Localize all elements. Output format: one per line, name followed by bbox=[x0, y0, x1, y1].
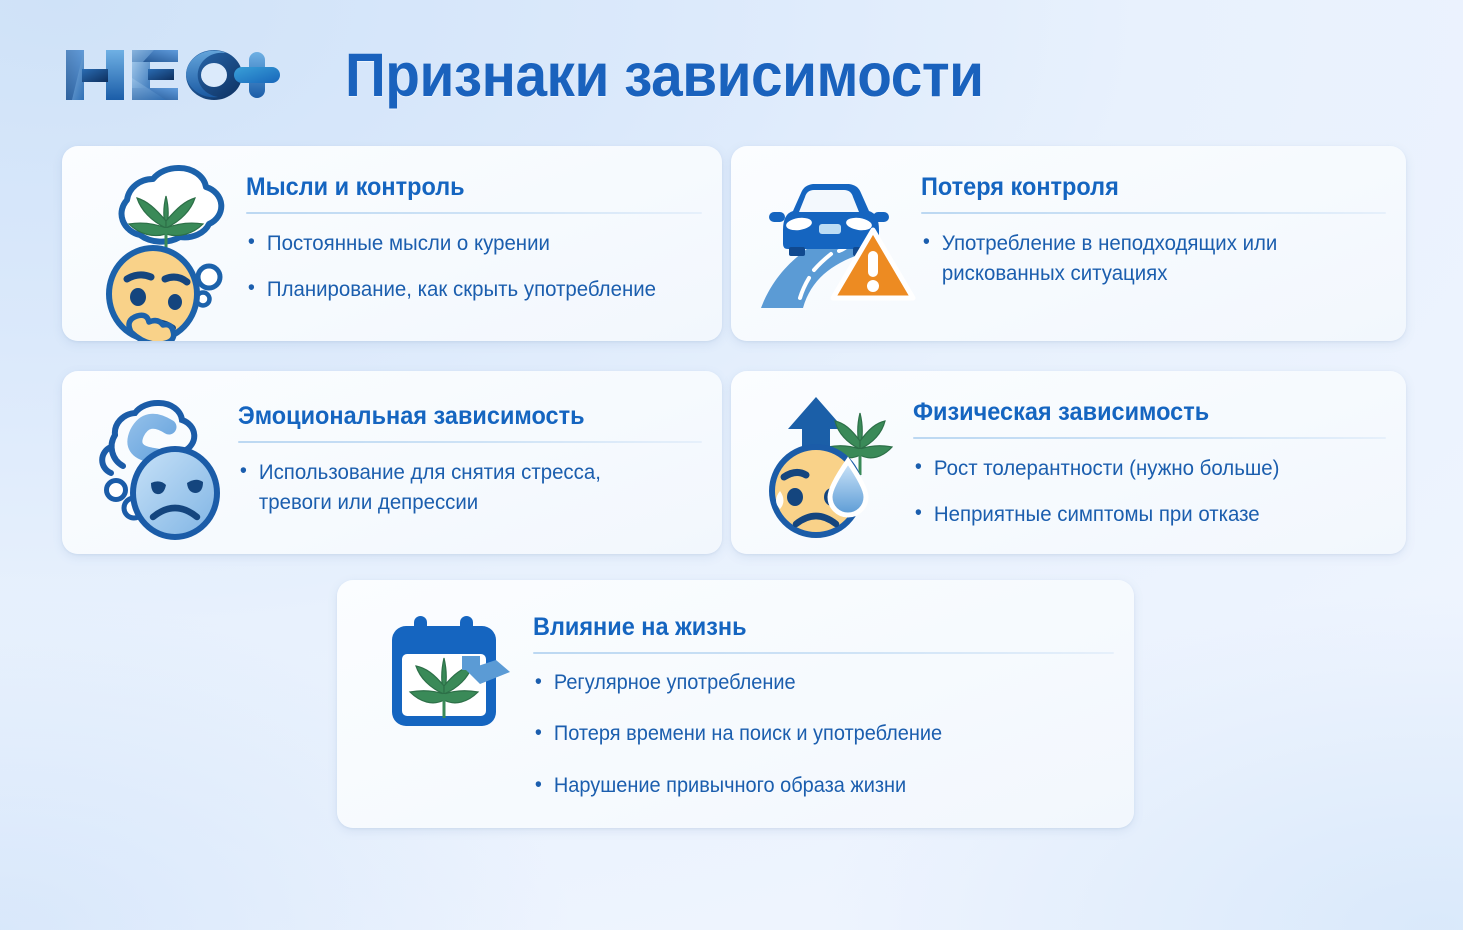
card-emotional-dependence[interactable]: Эмоциональная зависимость Использование … bbox=[62, 371, 722, 554]
worried-face-with-sweat-up-arrow-and-cannabis-leaf-icon bbox=[758, 391, 908, 541]
card-life-impact[interactable]: Влияние на жизнь Регулярное употребление… bbox=[337, 580, 1134, 828]
list-item: Использование для снятия стресса, тревог… bbox=[238, 457, 679, 518]
page-header: Признаки зависимости bbox=[0, 0, 1463, 140]
bullet-list-loss: Употребление в неподходящих или рискован… bbox=[921, 228, 1386, 289]
list-item: Рост толерантности (нужно больше) bbox=[913, 453, 1362, 484]
icon-wrap-thoughts bbox=[86, 166, 246, 341]
list-item: Потеря времени на поиск и употребление bbox=[533, 719, 1085, 749]
icon-wrap-emotional bbox=[88, 395, 238, 554]
bullet-list-physical: Рост толерантности (нужно больше) Неприя… bbox=[913, 453, 1386, 530]
body-emotional: Эмоциональная зависимость Использование … bbox=[238, 387, 702, 554]
list-item: Постоянные мысли о курении bbox=[246, 228, 679, 259]
card-title-life: Влияние на жизнь bbox=[533, 614, 1079, 642]
list-item: Планирование, как скрыть употребление bbox=[246, 274, 679, 305]
car-on-winding-road-with-warning-triangle-icon bbox=[757, 168, 917, 318]
body-life: Влияние на жизнь Регулярное употребление… bbox=[533, 602, 1114, 828]
body-loss: Потеря контроля Употребление в неподходя… bbox=[921, 162, 1386, 341]
list-item: Неприятные симптомы при отказе bbox=[913, 499, 1362, 530]
thinking-face-with-cannabis-thought-bubble-icon bbox=[91, 166, 241, 341]
list-item: Регулярное употребление bbox=[533, 668, 1085, 698]
bullet-list-life: Регулярное употребление Потеря времени н… bbox=[533, 668, 1114, 801]
card-title-thoughts: Мысли и контроль bbox=[246, 174, 675, 202]
title-rule bbox=[533, 652, 1114, 654]
card-physical-dependence[interactable]: Физическая зависимость Рост толерантност… bbox=[731, 371, 1406, 554]
list-item: Нарушение привычного образа жизни bbox=[533, 771, 1085, 801]
body-thoughts: Мысли и контроль Постоянные мысли о куре… bbox=[246, 162, 702, 341]
card-thoughts[interactable]: Мысли и контроль Постоянные мысли о куре… bbox=[62, 146, 722, 341]
title-rule bbox=[246, 212, 702, 214]
sad-blue-face-with-thought-cloud-icon bbox=[93, 395, 233, 545]
title-rule bbox=[913, 437, 1386, 439]
bullet-list-thoughts: Постоянные мысли о курении Планирование,… bbox=[246, 228, 702, 305]
calendar-with-cannabis-leaf-icon bbox=[386, 614, 521, 734]
list-item: Употребление в неподходящих или рискован… bbox=[921, 228, 1363, 289]
bullet-list-emotional: Использование для снятия стресса, тревог… bbox=[238, 457, 702, 518]
body-physical: Физическая зависимость Рост толерантност… bbox=[913, 385, 1386, 554]
icon-wrap-loss bbox=[753, 168, 921, 341]
card-title-loss: Потеря контроля bbox=[921, 174, 1358, 202]
neo-plus-logo bbox=[62, 44, 282, 106]
icon-wrap-life bbox=[373, 614, 533, 828]
card-title-physical: Физическая зависимость bbox=[913, 399, 1358, 427]
title-rule bbox=[921, 212, 1386, 214]
icon-wrap-physical bbox=[753, 391, 913, 554]
card-loss-of-control[interactable]: Потеря контроля Употребление в неподходя… bbox=[731, 146, 1406, 341]
card-title-emotional: Эмоциональная зависимость bbox=[238, 403, 674, 431]
page-title: Признаки зависимости bbox=[345, 40, 984, 110]
title-rule bbox=[238, 441, 702, 443]
